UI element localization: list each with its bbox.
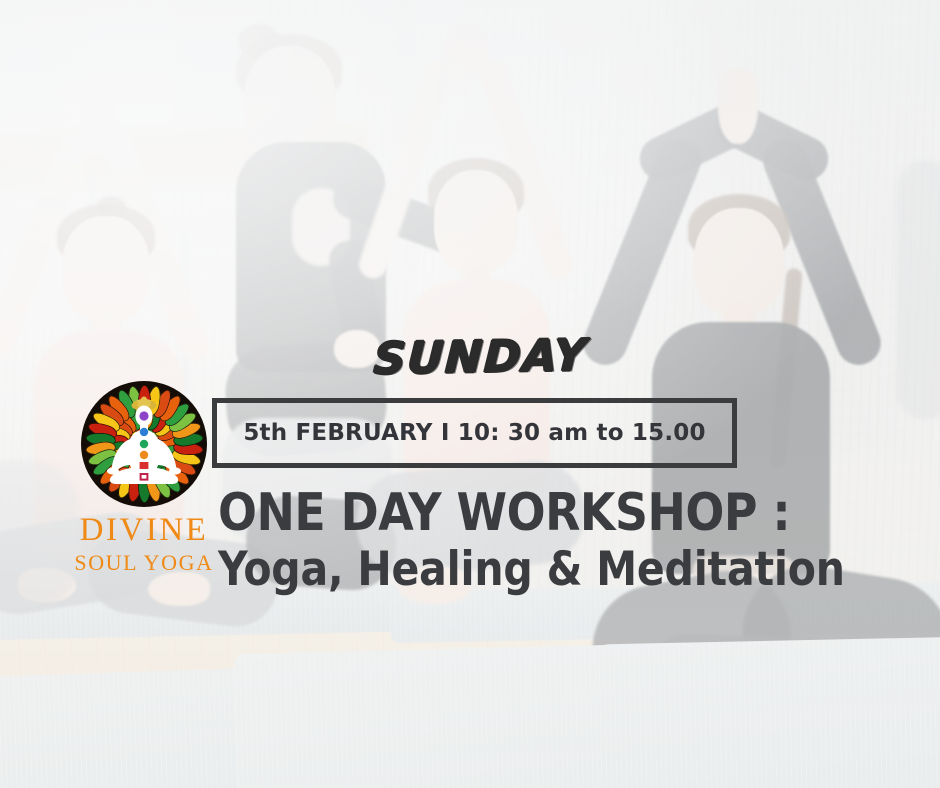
event-date-text: 5th FEBRUARY I 10: 30 am to 15.00 bbox=[243, 420, 705, 446]
meditation-figure-icon bbox=[83, 383, 205, 505]
event-title: ONE DAY WORKSHOP : bbox=[218, 487, 790, 539]
event-subtitle: Yoga, Healing & Meditation bbox=[218, 546, 845, 593]
mandala-lotus-meditation-icon bbox=[83, 383, 205, 505]
brand-name-primary: DIVINE bbox=[80, 514, 209, 547]
brand-logo: DIVINE SOUL YOGA bbox=[60, 383, 228, 574]
event-day-label: SUNDAY bbox=[373, 330, 590, 385]
brand-name-secondary: SOUL YOGA bbox=[74, 552, 213, 574]
event-date-box: 5th FEBRUARY I 10: 30 am to 15.00 bbox=[212, 398, 737, 468]
poster-content: DIVINE SOUL YOGA SUNDAY 5th FEBRUARY I 1… bbox=[0, 0, 940, 788]
poster-canvas: DIVINE SOUL YOGA SUNDAY 5th FEBRUARY I 1… bbox=[0, 0, 940, 788]
